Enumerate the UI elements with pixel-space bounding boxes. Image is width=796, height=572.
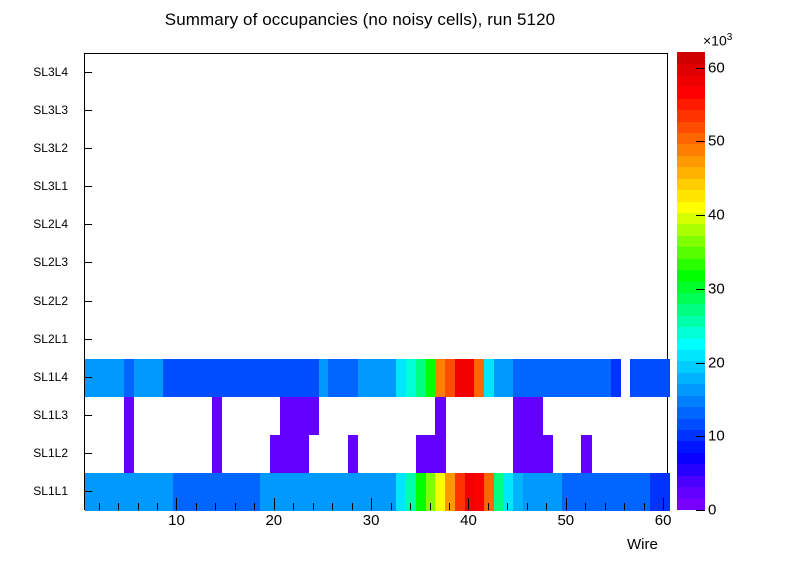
y-axis-tick	[84, 377, 92, 378]
color-bar-strip	[677, 155, 705, 167]
chart-title: Summary of occupancies (no noisy cells),…	[0, 10, 720, 30]
heatmap-row	[85, 244, 667, 282]
x-axis-labels: 102030405060	[0, 512, 796, 540]
color-bar-strip	[677, 475, 705, 487]
color-bar-tick-label: 10	[708, 428, 725, 445]
heatmap-cell	[581, 435, 591, 473]
y-axis-label-sl2l3: SL2L3	[33, 255, 68, 269]
heatmap-row	[85, 359, 667, 397]
color-bar-tick	[696, 215, 705, 216]
color-bar-strip	[677, 224, 705, 236]
y-axis-tick	[84, 186, 92, 187]
x-axis-tick-label: 40	[460, 512, 477, 529]
color-bar-strip	[677, 98, 705, 110]
y-axis-tick	[84, 148, 92, 149]
color-bar-strip	[677, 75, 705, 87]
x-axis-title: Wire	[627, 536, 658, 553]
heatmap-row	[85, 321, 667, 359]
color-bar-strip	[677, 235, 705, 247]
y-axis-label-sl3l4: SL3L4	[33, 65, 68, 79]
color-bar-strip	[677, 292, 705, 304]
heatmap-cell	[124, 397, 134, 435]
color-bar-strip	[677, 269, 705, 281]
y-axis-label-sl1l4: SL1L4	[33, 370, 68, 384]
color-bar-strip	[677, 110, 705, 122]
y-axis-label-sl2l4: SL2L4	[33, 217, 68, 231]
color-bar-strip	[677, 178, 705, 190]
x-axis-tick-label: 20	[265, 512, 282, 529]
heatmap-row	[85, 54, 667, 92]
y-axis-label-sl3l2: SL3L2	[33, 141, 68, 155]
y-axis-label-sl2l2: SL2L2	[33, 294, 68, 308]
multiplier-base: ×10	[703, 33, 727, 49]
x-axis-tick-label: 60	[655, 512, 672, 529]
heatmap-cell	[435, 397, 445, 435]
color-bar-strip	[677, 212, 705, 224]
plot-frame	[84, 53, 668, 510]
color-bar-strip	[677, 87, 705, 99]
color-bar-strip	[677, 452, 705, 464]
color-bar-strip	[677, 281, 705, 293]
color-bar-strip	[677, 121, 705, 133]
heatmap-cell	[533, 397, 543, 435]
color-bar-tick	[696, 68, 705, 69]
color-bar-strip	[677, 144, 705, 156]
y-axis-tick	[84, 415, 92, 416]
color-bar-tick-label: 20	[708, 354, 725, 371]
heatmap-cell	[542, 435, 552, 473]
color-bar-strip	[677, 338, 705, 350]
color-bar-tick-label: 40	[708, 207, 725, 224]
y-axis-label-sl1l1: SL1L1	[33, 484, 68, 498]
heatmap-row	[85, 130, 667, 168]
x-axis-tick-label: 10	[168, 512, 185, 529]
heatmap-cell	[611, 359, 621, 397]
heatmap-cell	[435, 435, 445, 473]
color-bar-strip	[677, 167, 705, 179]
heatmap-row	[85, 92, 667, 130]
color-bar-strip	[677, 441, 705, 453]
heatmap-row	[85, 168, 667, 206]
color-bar-strip	[677, 487, 705, 499]
color-bar-tick	[696, 510, 705, 511]
y-axis-tick	[84, 72, 92, 73]
heatmap-row	[85, 397, 667, 435]
y-axis-tick	[84, 224, 92, 225]
color-bar-strip	[677, 64, 705, 76]
multiplier-exponent: 3	[727, 32, 733, 43]
color-bar-axis: 0102030405060	[705, 53, 795, 510]
x-axis-tick-label: 50	[557, 512, 574, 529]
color-bar	[677, 53, 705, 510]
heatmap-cell	[124, 435, 134, 473]
heatmap-row	[85, 473, 667, 511]
y-axis: SL1L1SL1L2SL1L3SL1L4SL2L1SL2L2SL2L3SL2L4…	[0, 53, 84, 510]
heatmap-cells	[85, 54, 667, 509]
x-axis-tick-label: 30	[363, 512, 380, 529]
y-axis-tick	[84, 262, 92, 263]
heatmap-cell	[659, 473, 669, 511]
color-bar-strip	[677, 384, 705, 396]
color-bar-strip	[677, 498, 705, 510]
color-bar-strip	[677, 464, 705, 476]
color-bar-multiplier: ×103	[703, 32, 732, 49]
color-bar-strip	[677, 258, 705, 270]
color-bar-strip	[677, 407, 705, 419]
heatmap-cell	[212, 397, 222, 435]
color-bar-strip	[677, 349, 705, 361]
color-bar-strip	[677, 190, 705, 202]
y-axis-label-sl3l1: SL3L1	[33, 179, 68, 193]
color-bar-strip	[677, 372, 705, 384]
y-axis-label-sl2l1: SL2L1	[33, 332, 68, 346]
color-bar-tick-label: 30	[708, 280, 725, 297]
heatmap-row	[85, 206, 667, 244]
y-axis-tick	[84, 453, 92, 454]
color-bar-tick	[696, 141, 705, 142]
heatmap-cell	[659, 359, 669, 397]
y-axis-label-sl3l3: SL3L3	[33, 103, 68, 117]
heatmap-cell	[348, 435, 358, 473]
heatmap-row	[85, 283, 667, 321]
heatmap-row	[85, 435, 667, 473]
color-bar-tick	[696, 363, 705, 364]
color-bar-tick	[696, 436, 705, 437]
y-axis-tick	[84, 339, 92, 340]
y-axis-tick	[84, 301, 92, 302]
heatmap-cell	[212, 435, 222, 473]
heatmap-cell	[309, 397, 319, 435]
color-bar-tick	[696, 289, 705, 290]
color-bar-strip	[677, 315, 705, 327]
color-bar-tick-label: 50	[708, 133, 725, 150]
color-bar-strip	[677, 327, 705, 339]
color-bar-strip	[677, 395, 705, 407]
color-bar-strip	[677, 304, 705, 316]
color-bar-strip	[677, 132, 705, 144]
color-bar-strip	[677, 52, 705, 64]
color-bar-tick-label: 60	[708, 59, 725, 76]
color-bar-strip	[677, 247, 705, 259]
color-bar-strip	[677, 201, 705, 213]
y-axis-tick	[84, 491, 92, 492]
y-axis-label-sl1l3: SL1L3	[33, 408, 68, 422]
color-bar-strip	[677, 418, 705, 430]
y-axis-label-sl1l2: SL1L2	[33, 446, 68, 460]
heatmap-cell	[299, 435, 309, 473]
chart-canvas: Summary of occupancies (no noisy cells),…	[0, 0, 796, 572]
y-axis-tick	[84, 110, 92, 111]
color-bar-tick-label: 0	[708, 502, 716, 519]
